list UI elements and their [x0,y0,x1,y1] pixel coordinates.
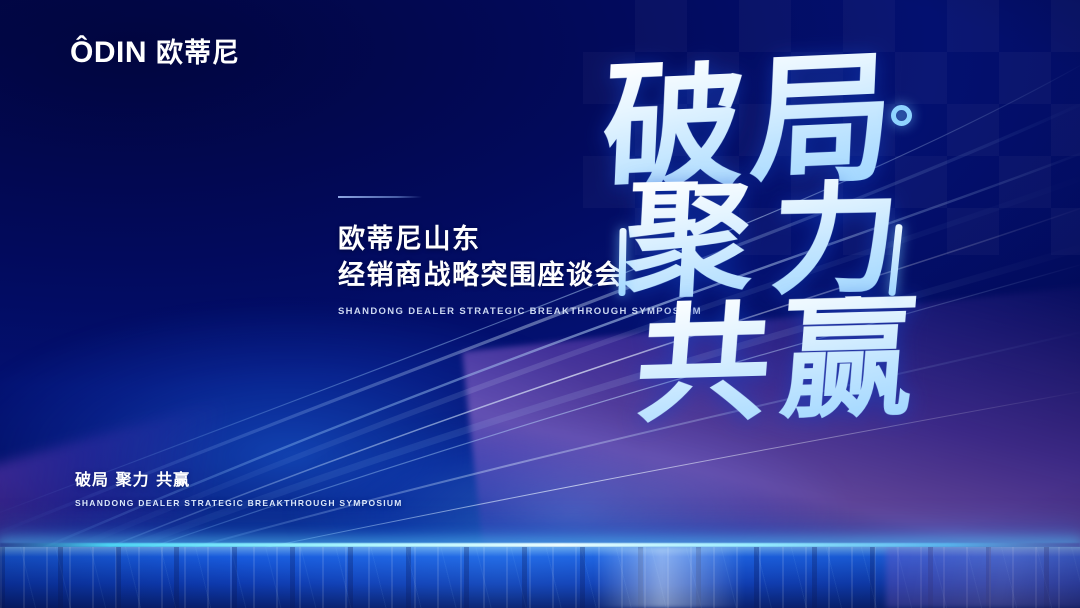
event-poster: ÔDIN 欧蒂尼 欧蒂尼山东 经销商战略突围座谈会 SHANDONG DEALE… [0,0,1080,608]
headline-calligraphy: 破局 聚力 共赢 [585,48,1005,468]
brand-logo: ÔDIN 欧蒂尼 [70,38,240,68]
brand-chinese-name: 欧蒂尼 [156,40,240,67]
footer-slogan: 破局 聚力 共赢 [75,466,403,490]
vertical-bar-left-icon [618,228,626,296]
footer-slogan-block: 破局 聚力 共赢 SHANDONG DEALER STRATEGIC BREAK… [75,466,403,508]
title-divider-rule [338,196,422,198]
reflective-floor [0,547,1080,608]
circle-ring-icon [891,105,912,126]
floor-purple-highlight [886,547,1080,608]
footer-slogan-english: SHANDONG DEALER STRATEGIC BREAKTHROUGH S… [75,498,403,508]
headline-line-3: 共赢 [632,294,930,425]
floor-specular-highlight [594,547,745,608]
brand-latin-name: ÔDIN [70,38,147,68]
